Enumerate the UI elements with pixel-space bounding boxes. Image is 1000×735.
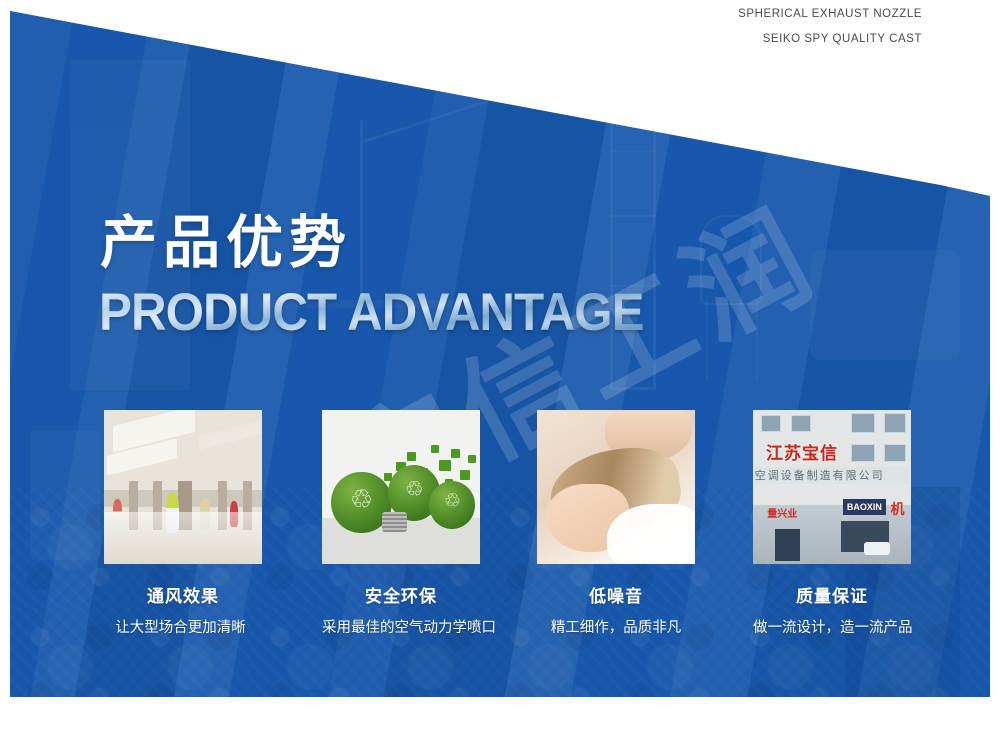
recycle-symbol-icon: ♲: [440, 492, 466, 517]
header-tagline: SPHERICAL EXHAUST NOZZLE SEIKO SPY QUALI…: [738, 2, 922, 52]
bulbs-scene: ♲ ♲ ♲: [322, 410, 480, 564]
ghost-chair-back: [700, 215, 762, 305]
ghost-lamp-pole: [360, 120, 363, 300]
building-company-sign: 江苏宝信: [759, 439, 844, 459]
product-advantage-page: SPHERICAL EXHAUST NOZZLE SEIKO SPY QUALI…: [0, 0, 1000, 735]
ghost-ladder: [610, 90, 656, 390]
feature-card-title: 质量保证: [753, 582, 911, 607]
building-shop-sign: BAOXIN: [843, 499, 886, 514]
feature-card-title: 安全环保: [322, 582, 480, 607]
building-sign-band: 空调设备制造有限公司: [755, 467, 910, 484]
leaf: [407, 452, 416, 461]
ghost-ladder-rung-1: [610, 150, 656, 152]
feature-card-title: 低噪音: [537, 582, 695, 607]
parked-van: [864, 542, 891, 554]
building-window: [884, 444, 906, 462]
shopping-mall-interior-photo: [104, 410, 262, 564]
leaf: [439, 460, 451, 471]
building-left-sign: 量兴业: [767, 505, 797, 520]
bulb-screw-base: [382, 512, 407, 532]
ghost-sofa-block: [810, 250, 960, 360]
feature-card-eco[interactable]: ♲ ♲ ♲ 安全环保 采用最佳的空气动力学喷口: [322, 410, 480, 637]
ghost-chair-leg-left: [706, 300, 708, 380]
building-scene: 江苏宝信 空调设备制造有限公司 量兴业 BAOXIN 机: [753, 410, 911, 564]
mall-scene: [104, 410, 262, 564]
bottom-white-margin: [0, 697, 1000, 735]
building-window: [884, 413, 906, 433]
building-window: [851, 413, 875, 433]
recycle-bulb-right: ♲: [429, 481, 475, 529]
building-shop-sign-cn: 机: [890, 499, 904, 519]
feature-card-low-noise[interactable]: 低噪音 精工细作，品质非凡: [537, 410, 695, 637]
building-entrance-door: [775, 529, 800, 561]
feature-card-desc: 采用最佳的空气动力学喷口: [322, 616, 480, 637]
green-recycle-lightbulbs-photo: ♲ ♲ ♲: [322, 410, 480, 564]
leaf: [468, 455, 476, 463]
page-title-cn: 产品优势: [100, 214, 352, 274]
ghost-chair-leg-right: [756, 300, 758, 380]
building-window: [761, 415, 782, 432]
feature-card-title: 通风效果: [104, 582, 262, 607]
feature-card-desc: 做一流设计，造一流产品: [753, 616, 911, 637]
leaf: [451, 449, 460, 458]
recycle-symbol-icon: ♲: [345, 486, 379, 518]
building-window: [851, 444, 875, 462]
building-window: [791, 415, 812, 432]
factory-building-photo: 江苏宝信 空调设备制造有限公司 量兴业 BAOXIN 机: [753, 410, 911, 564]
leaf: [460, 470, 470, 480]
page-title-en: PRODUCT ADVANTAGE: [99, 286, 644, 339]
mall-ceiling-light-3: [199, 421, 262, 451]
mall-floor-reflection: [104, 512, 262, 564]
tagline-line-2: SEIKO SPY QUALITY CAST: [738, 27, 922, 52]
leaf: [431, 445, 439, 453]
ghost-ladder-rung-2: [610, 215, 656, 217]
feature-card-desc: 精工细作，品质非凡: [537, 616, 695, 637]
sleeping-woman-photo: [537, 410, 695, 564]
feature-card-ventilation[interactable]: 通风效果 让大型场合更加清晰: [104, 410, 262, 637]
feature-card-desc: 让大型场合更加清晰: [99, 616, 262, 637]
feature-card-quality[interactable]: 江苏宝信 空调设备制造有限公司 量兴业 BAOXIN 机 质量保证 做一流设计，…: [753, 410, 911, 637]
tagline-line-1: SPHERICAL EXHAUST NOZZLE: [738, 2, 922, 27]
recycle-symbol-icon: ♲: [400, 479, 429, 508]
sleeping-scene: [537, 410, 695, 564]
